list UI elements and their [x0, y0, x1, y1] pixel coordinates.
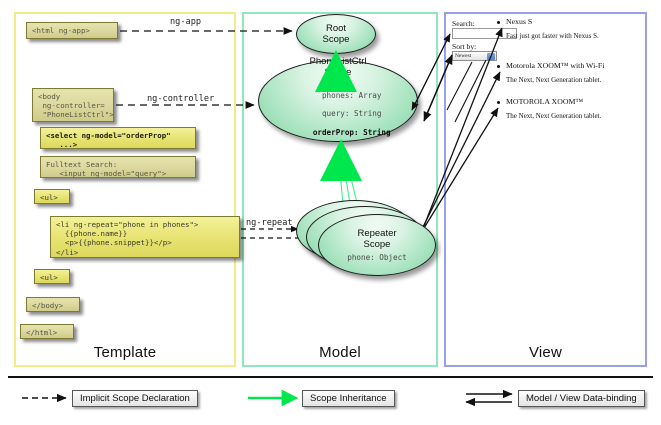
legend-item-model-view-data-binding: Model / View Data-binding — [518, 390, 645, 407]
scope-phonelistctrl: PhoneListCtrl Scope phones: Array query:… — [258, 60, 418, 142]
view-phone-snippet-1: The Next, Next Generation tablet. — [506, 76, 601, 84]
scope-ctrl-title-line1: PhoneListCtrl — [309, 56, 366, 67]
scope-ctrl-title-line2: Scope — [325, 67, 352, 78]
view-search-label: Search: — [452, 19, 475, 28]
scope-repeater-title-line1: Repeater — [357, 228, 396, 239]
legend-item-implicit-scope-declaration: Implicit Scope Declaration — [72, 390, 198, 407]
connector-label-ng-app: ng-app — [170, 17, 201, 27]
code-box-body-close-tag: </body> — [26, 297, 80, 312]
connector-label-ng-repeat: ng-repeat — [246, 218, 293, 228]
view-sort-select-value: Newest — [455, 53, 471, 59]
code-box-select-tag: <select ng-model="orderProp" ...> — [40, 127, 196, 149]
scope-ctrl-prop-query: query: String — [322, 109, 381, 118]
view-phone-snippet-2: The Next, Next Generation tablet. — [506, 112, 601, 120]
code-box-body-tag: <body ng-controller= "PhoneListCtrl"> — [32, 88, 114, 122]
code-box-input-tag: Fulltext Search: <input ng-model="query"… — [40, 156, 196, 178]
scope-root-title-line2: Scope — [323, 34, 350, 45]
view-sort-label: Sort by: — [452, 42, 476, 51]
view-phone-bullet — [497, 65, 500, 68]
view-sort-select[interactable]: Newest ▾ — [452, 51, 497, 61]
scope-repeater: Repeater Scope phone: Object — [318, 214, 436, 276]
code-box-ul-close-tag: <ul> — [34, 269, 70, 284]
view-phone-bullet — [497, 21, 500, 24]
legend-item-scope-inheritance: Scope Inheritance — [302, 390, 395, 407]
view-phone-snippet-0: Fast just got faster with Nexus S. — [506, 32, 599, 40]
scope-root: Root Scope — [296, 14, 376, 54]
view-phone-name-2[interactable]: MOTOROLA XOOM™ — [506, 97, 583, 106]
scope-repeater-title-line2: Scope — [364, 239, 391, 250]
code-box-li-repeat-tag: <li ng-repeat="phone in phones"> {{phone… — [50, 216, 240, 258]
scope-ctrl-prop-phones: phones: Array — [322, 91, 381, 100]
connector-label-ng-controller: ng-controller — [147, 94, 214, 104]
panel-model-label: Model — [244, 344, 436, 361]
code-box-html-close-tag: </html> — [20, 324, 74, 339]
scope-root-title-line1: Root — [326, 23, 346, 34]
view-phone-name-0[interactable]: Nexus S — [506, 17, 532, 26]
panel-view-label: View — [446, 344, 645, 361]
view-phone-name-1[interactable]: Motorola XOOM™ with Wi-Fi — [506, 61, 604, 70]
scope-repeater-prop-phone: phone: Object — [347, 253, 406, 262]
diagram-canvas: Template Model View <html ng-app> <body … — [0, 0, 661, 425]
legend-divider — [8, 376, 653, 378]
view-phone-bullet — [497, 101, 500, 104]
code-box-html-tag: <html ng-app> — [26, 22, 118, 39]
chevron-down-icon: ▾ — [487, 53, 495, 60]
code-box-ul-open-tag: <ul> — [34, 189, 70, 204]
scope-ctrl-prop-orderprop: orderProp: String — [313, 128, 391, 137]
panel-template-label: Template — [16, 344, 234, 361]
